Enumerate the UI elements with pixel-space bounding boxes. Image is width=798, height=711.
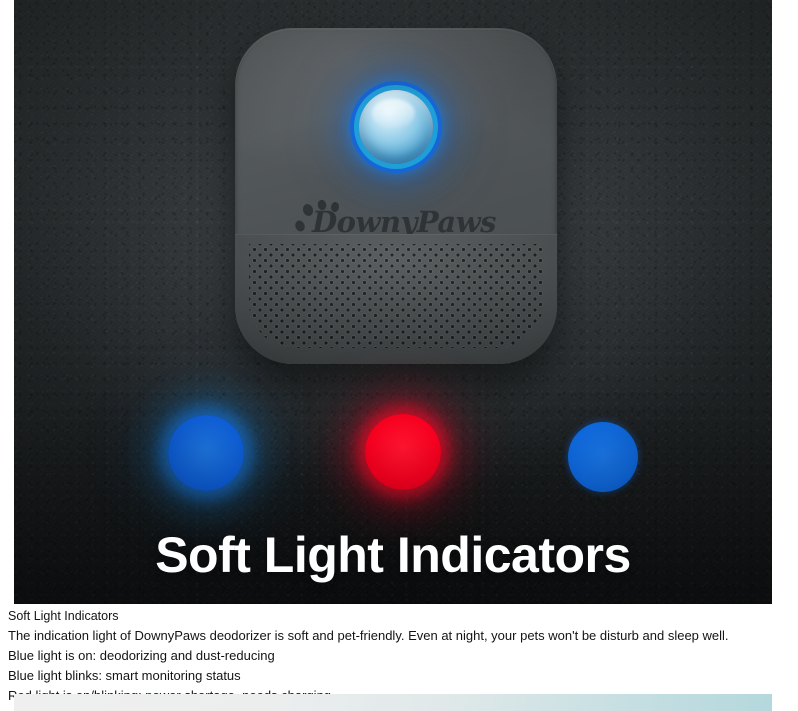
caption-line-blue-blinks: Blue light blinks: smart monitoring stat… [8,666,790,686]
caption-block: Soft Light Indicators The indication lig… [8,606,790,706]
caption-line-description: The indication light of DownyPaws deodor… [8,626,790,646]
product-detail-page: DownyPaws Soft Light Indicators Soft Lig… [0,0,798,711]
caption-line-blue-on: Blue light is on: deodorizing and dust-r… [8,646,790,666]
hero-product-image: DownyPaws Soft Light Indicators [14,0,772,604]
caption-heading: Soft Light Indicators [8,606,790,626]
next-image-strip [14,694,772,711]
hero-vignette [14,0,772,604]
hero-title: Soft Light Indicators [14,528,772,583]
